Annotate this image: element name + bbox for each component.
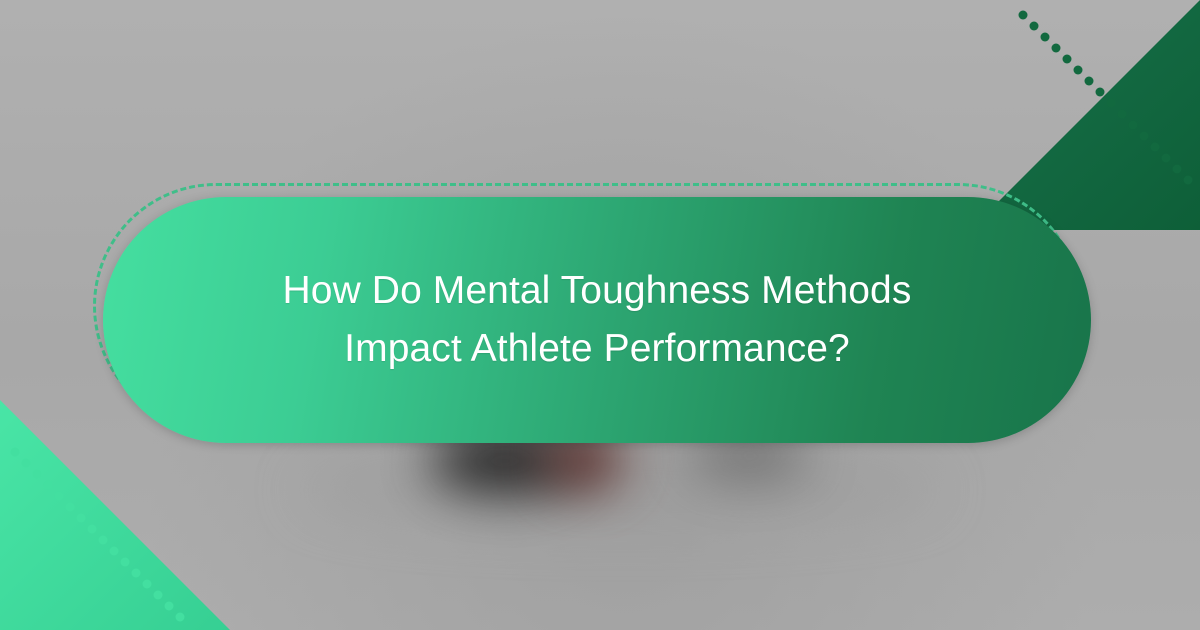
title-card: How Do Mental Toughness Methods Impact A… [103, 197, 1091, 443]
share-card-canvas: How Do Mental Toughness Methods Impact A… [0, 0, 1200, 630]
page-title: How Do Mental Toughness Methods Impact A… [283, 262, 912, 378]
